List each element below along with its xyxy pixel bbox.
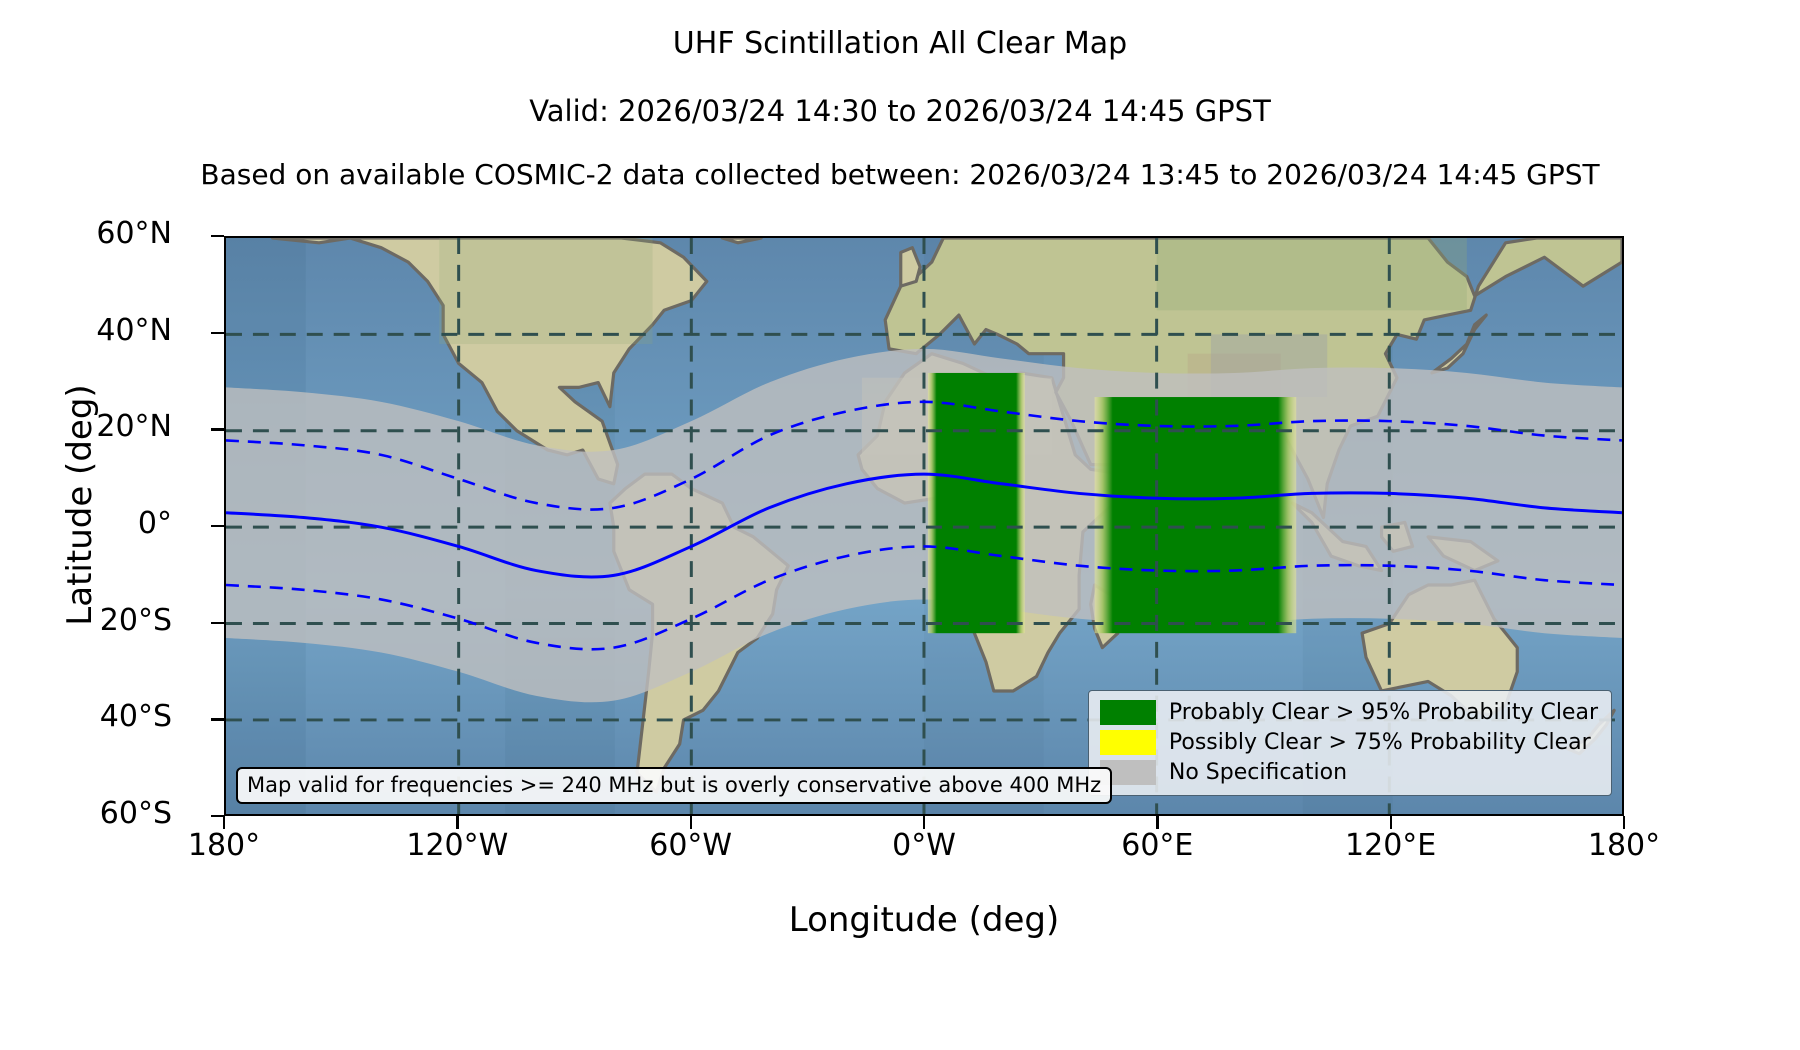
y-tick-mark: [211, 622, 224, 624]
y-tick-label: 20°S: [12, 603, 172, 638]
y-tick-label: 60°S: [12, 796, 172, 831]
x-tick-mark: [923, 816, 925, 829]
x-tick-mark: [1390, 816, 1392, 829]
map-plot-area: Probably Clear > 95% Probability ClearPo…: [224, 236, 1624, 816]
legend-label: Possibly Clear > 75% Probability Clear: [1169, 730, 1591, 755]
x-tick-mark: [456, 816, 458, 829]
data-source-text: Based on available COSMIC-2 data collect…: [0, 158, 1800, 191]
map-legend: Probably Clear > 95% Probability ClearPo…: [1088, 690, 1612, 796]
y-tick-mark: [211, 428, 224, 430]
x-tick-mark: [690, 816, 692, 829]
valid-period-text: Valid: 2026/03/24 14:30 to 2026/03/24 14…: [0, 94, 1800, 128]
y-tick-label: 20°N: [12, 409, 172, 444]
all-clear-map-figure: UHF Scintillation All Clear Map Valid: 2…: [0, 0, 1800, 1050]
x-tick-label: 60°W: [591, 828, 791, 863]
frequency-validity-note: Map valid for frequencies >= 240 MHz but…: [236, 767, 1112, 804]
x-tick-label: 60°E: [1057, 828, 1257, 863]
y-tick-mark: [211, 235, 224, 237]
legend-swatch: [1100, 700, 1156, 725]
y-tick-label: 60°N: [12, 216, 172, 251]
y-tick-mark: [211, 718, 224, 720]
y-tick-mark: [211, 525, 224, 527]
x-tick-label: 180°: [124, 828, 324, 863]
x-tick-label: 120°W: [357, 828, 557, 863]
x-tick-mark: [1156, 816, 1158, 829]
legend-item: No Specification: [1100, 760, 1598, 785]
figure-title: UHF Scintillation All Clear Map: [0, 26, 1800, 61]
y-tick-label: 40°S: [12, 699, 172, 734]
x-tick-label: 180°: [1524, 828, 1724, 863]
legend-item: Probably Clear > 95% Probability Clear: [1100, 700, 1598, 725]
x-tick-mark: [1623, 816, 1625, 829]
x-tick-label: 120°E: [1291, 828, 1491, 863]
y-tick-label: 0°: [12, 506, 172, 541]
legend-item: Possibly Clear > 75% Probability Clear: [1100, 730, 1598, 755]
legend-swatch: [1100, 730, 1156, 755]
x-tick-label: 0°W: [824, 828, 1024, 863]
y-tick-label: 40°N: [12, 313, 172, 348]
y-tick-mark: [211, 332, 224, 334]
x-tick-mark: [223, 816, 225, 829]
x-axis-title: Longitude (deg): [224, 900, 1624, 940]
legend-label: Probably Clear > 95% Probability Clear: [1169, 700, 1598, 725]
legend-label: No Specification: [1169, 760, 1347, 785]
